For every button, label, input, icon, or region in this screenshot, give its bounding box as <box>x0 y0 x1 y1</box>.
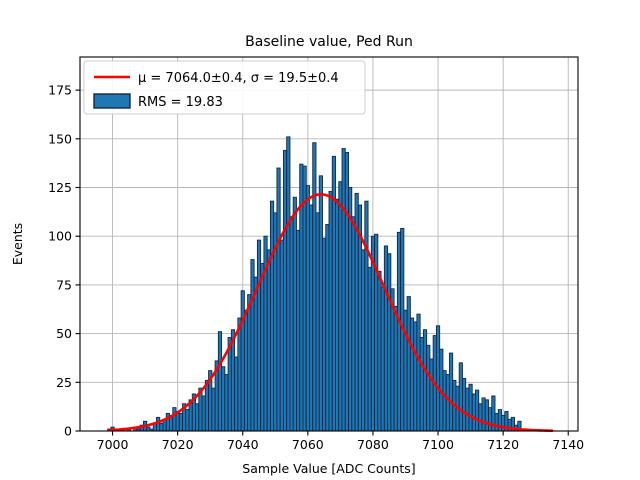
histogram-bar <box>270 201 273 431</box>
histogram-bar <box>479 404 482 431</box>
histogram-bar <box>397 232 400 431</box>
histogram-bar <box>287 137 290 431</box>
histogram-bar <box>290 217 293 431</box>
histogram-bar <box>277 168 280 431</box>
page-title: Baseline value, Ped Run <box>245 34 413 50</box>
x-tick-label: 7020 <box>162 437 194 452</box>
histogram-bar <box>241 291 244 431</box>
histogram-bar <box>462 378 465 431</box>
histogram-bar <box>179 413 182 431</box>
histogram-bar <box>326 225 329 431</box>
histogram-bar <box>316 213 319 431</box>
x-tick-label: 7000 <box>97 437 129 452</box>
histogram-bar <box>475 390 478 431</box>
x-axis-ticks: 70007020704070607080710071207140 <box>97 431 585 452</box>
histogram-bar <box>495 413 498 431</box>
histogram-bar <box>352 217 355 431</box>
histogram-bar <box>329 191 332 431</box>
histogram-bar <box>365 201 368 431</box>
legend-entry-label: μ = 7064.0±0.4, σ = 19.5±0.4 <box>138 71 339 86</box>
histogram-bar <box>173 408 176 431</box>
y-tick-label: 50 <box>56 326 72 341</box>
histogram-bar <box>222 367 225 431</box>
histogram-bar <box>306 186 309 431</box>
histogram-bar <box>384 246 387 431</box>
histogram-bar <box>235 357 238 431</box>
histogram-bar <box>218 332 221 431</box>
histogram-bar <box>186 410 189 431</box>
histogram-bar <box>485 400 488 431</box>
histogram-bar <box>488 408 491 431</box>
histogram-bar <box>212 388 215 431</box>
y-axis-label: Events <box>10 223 25 265</box>
histogram-chart: 70007020704070607080710071207140 0255075… <box>0 0 640 480</box>
histogram-bar <box>430 359 433 431</box>
x-tick-label: 7060 <box>292 437 324 452</box>
histogram-bar <box>313 143 316 431</box>
histogram-bar <box>443 371 446 431</box>
histogram-bar <box>267 250 270 431</box>
y-tick-label: 175 <box>48 83 72 98</box>
histogram-bar <box>296 230 299 431</box>
histogram-bar <box>449 353 452 431</box>
histogram-bar <box>394 306 397 431</box>
histogram-bar <box>368 267 371 431</box>
y-tick-label: 75 <box>56 277 72 292</box>
legend-entry-label: RMS = 19.83 <box>138 95 223 110</box>
histogram-bar <box>261 263 264 431</box>
histogram-bar <box>436 326 439 431</box>
histogram-bar <box>248 295 251 431</box>
legend-patch-swatch <box>94 94 130 108</box>
histogram-bar <box>244 310 247 431</box>
y-tick-label: 0 <box>64 424 72 439</box>
y-tick-label: 150 <box>48 131 72 146</box>
histogram-bar <box>336 199 339 431</box>
histogram-bar <box>205 380 208 431</box>
histogram-bar <box>410 318 413 431</box>
histogram-bar <box>251 260 254 431</box>
x-tick-label: 7100 <box>422 437 454 452</box>
histogram-bar <box>147 427 150 431</box>
histogram-bar <box>362 250 365 431</box>
x-tick-label: 7040 <box>227 437 259 452</box>
y-tick-label: 125 <box>48 180 72 195</box>
histogram-bar <box>482 398 485 431</box>
figure-canvas: 70007020704070607080710071207140 0255075… <box>0 0 640 480</box>
histogram-bar <box>466 388 469 431</box>
histogram-bar <box>420 338 423 432</box>
histogram-bar <box>349 188 352 431</box>
histogram-bar <box>293 197 296 431</box>
histogram-bar <box>303 166 306 431</box>
x-tick-label: 7140 <box>552 437 584 452</box>
x-tick-label: 7120 <box>487 437 519 452</box>
histogram-bar <box>319 176 322 431</box>
histogram-bar <box>381 287 384 431</box>
x-tick-label: 7080 <box>357 437 389 452</box>
histogram-bar <box>472 394 475 431</box>
histogram-bar <box>160 423 163 431</box>
y-axis-ticks: 0255075100125150175 <box>48 83 80 439</box>
histogram-bar <box>469 384 472 431</box>
histogram-bar <box>407 297 410 431</box>
y-tick-label: 100 <box>48 229 72 244</box>
histogram-bar <box>257 240 260 431</box>
histogram-bar <box>427 345 430 431</box>
histogram-bar <box>225 375 228 431</box>
histogram-bar <box>202 396 205 431</box>
histogram-bar <box>378 271 381 431</box>
histogram-bar <box>322 238 325 431</box>
histogram-bar <box>417 314 420 431</box>
histogram-bar <box>388 254 391 431</box>
y-tick-label: 25 <box>56 375 72 390</box>
chart-legend[interactable]: μ = 7064.0±0.4, σ = 19.5±0.4RMS = 19.83 <box>84 61 365 114</box>
histogram-bar <box>345 152 348 431</box>
histogram-bar <box>446 375 449 431</box>
histogram-bar <box>404 310 407 431</box>
histogram-bar <box>280 240 283 431</box>
histogram-bar <box>414 322 417 431</box>
histogram-bar <box>339 182 342 431</box>
histogram-bar <box>238 318 241 431</box>
histogram-bar <box>254 277 257 431</box>
histogram-bar <box>196 404 199 431</box>
x-axis-label: Sample Value [ADC Counts] <box>242 461 415 476</box>
histogram-bar <box>342 149 345 431</box>
histogram-bar <box>459 363 462 431</box>
histogram-bar <box>283 151 286 432</box>
histogram-bar <box>423 330 426 431</box>
histogram-bar <box>309 205 312 431</box>
histogram-bar <box>156 417 159 431</box>
histogram-bar <box>228 338 231 432</box>
